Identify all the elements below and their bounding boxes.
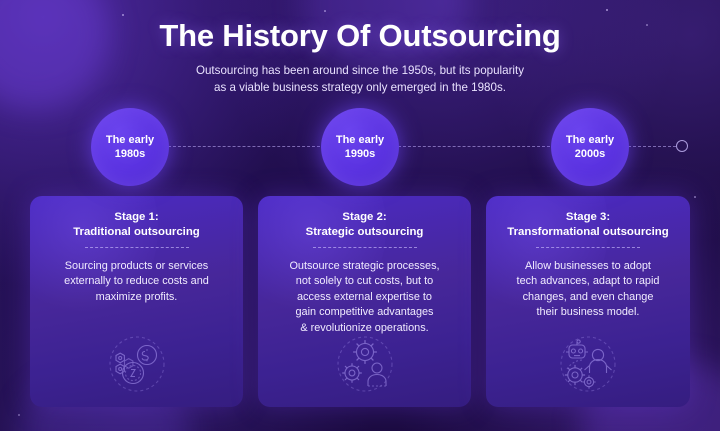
stage-card-3-heading: Stage 3: Transformational outsourcing <box>498 210 678 240</box>
timeline-connector-2 <box>398 146 550 147</box>
stage-card-1-body-line: maximize profits. <box>42 290 231 305</box>
page-title: The History Of Outsourcing <box>0 18 720 54</box>
stage-card-1-body: Sourcing products or services externally… <box>42 259 231 305</box>
stage-card-3-heading-line2: Transformational outsourcing <box>498 225 678 240</box>
stage-card-2-divider <box>313 247 417 248</box>
timeline-node-1980s-line1: The early <box>106 133 154 147</box>
timeline-node-1990s-line2: 1990s <box>336 147 384 161</box>
stage-card-1-heading: Stage 1: Traditional outsourcing <box>42 210 231 240</box>
stage-card-1-heading-line2: Traditional outsourcing <box>42 225 231 240</box>
stage-card-3-body-line: tech advances, adapt to rapid <box>498 274 678 289</box>
sparkle-dot <box>606 9 608 11</box>
timeline-node-1990s[interactable]: The early 1990s <box>321 108 399 186</box>
timeline-node-2000s-line1: The early <box>566 133 614 147</box>
stage-card-3-body-line: Allow businesses to adopt <box>498 259 678 274</box>
robot-automation-icon <box>551 333 625 395</box>
stage-card-2[interactable]: Stage 2: Strategic outsourcing Outsource… <box>258 196 471 407</box>
stage-card-1-divider <box>85 247 189 248</box>
stage-card-3-body-line: changes, and even change <box>498 290 678 305</box>
sparkle-dot <box>324 10 326 12</box>
timeline-node-2000s-line2: 2000s <box>566 147 614 161</box>
outsourcing-history-infographic: The History Of Outsourcing Outsourcing h… <box>0 0 720 431</box>
timeline-node-2000s[interactable]: The early 2000s <box>551 108 629 186</box>
stage-card-3-heading-line1: Stage 3: <box>498 210 678 225</box>
timeline-connector-1 <box>168 146 320 147</box>
timeline-node-1980s[interactable]: The early 1980s <box>91 108 169 186</box>
stage-card-3[interactable]: Stage 3: Transformational outsourcing Al… <box>486 196 690 407</box>
stage-card-3-body-line: their business model. <box>498 305 678 320</box>
sparkle-dot <box>122 14 124 16</box>
gears-person-icon <box>328 333 402 395</box>
stage-cards: Stage 1: Traditional outsourcing Sourcin… <box>0 196 720 408</box>
stage-card-3-body: Allow businesses to adopt tech advances,… <box>498 259 678 321</box>
coins-gears-icon <box>100 333 174 395</box>
timeline: The early 1980s The early 1990s The earl… <box>0 108 720 188</box>
stage-card-3-divider <box>536 247 640 248</box>
stage-card-2-heading-line2: Strategic outsourcing <box>270 225 459 240</box>
stage-card-2-heading-line1: Stage 2: <box>270 210 459 225</box>
sparkle-dot <box>18 414 20 416</box>
timeline-node-1980s-line2: 1980s <box>106 147 154 161</box>
stage-card-2-body-line: gain competitive advantages <box>270 305 459 320</box>
timeline-node-1990s-line1: The early <box>336 133 384 147</box>
stage-card-2-body: Outsource strategic processes, not solel… <box>270 259 459 336</box>
subtitle-line-2: as a viable business strategy only emerg… <box>0 80 720 97</box>
stage-card-1-body-line: Sourcing products or services <box>42 259 231 274</box>
stage-card-2-heading: Stage 2: Strategic outsourcing <box>270 210 459 240</box>
stage-card-1[interactable]: Stage 1: Traditional outsourcing Sourcin… <box>30 196 243 407</box>
page-subtitle: Outsourcing has been around since the 19… <box>0 63 720 96</box>
subtitle-line-1: Outsourcing has been around since the 19… <box>0 63 720 80</box>
stage-card-1-heading-line1: Stage 1: <box>42 210 231 225</box>
stage-card-2-body-line: not solely to cut costs, but to <box>270 274 459 289</box>
stage-card-2-body-line: Outsource strategic processes, <box>270 259 459 274</box>
stage-card-1-body-line: externally to reduce costs and <box>42 274 231 289</box>
stage-card-2-body-line: & revolutionize operations. <box>270 321 459 336</box>
timeline-endcap-icon <box>676 140 688 152</box>
header: The History Of Outsourcing Outsourcing h… <box>0 18 720 96</box>
timeline-connector-3 <box>628 146 676 147</box>
stage-card-2-body-line: access external expertise to <box>270 290 459 305</box>
